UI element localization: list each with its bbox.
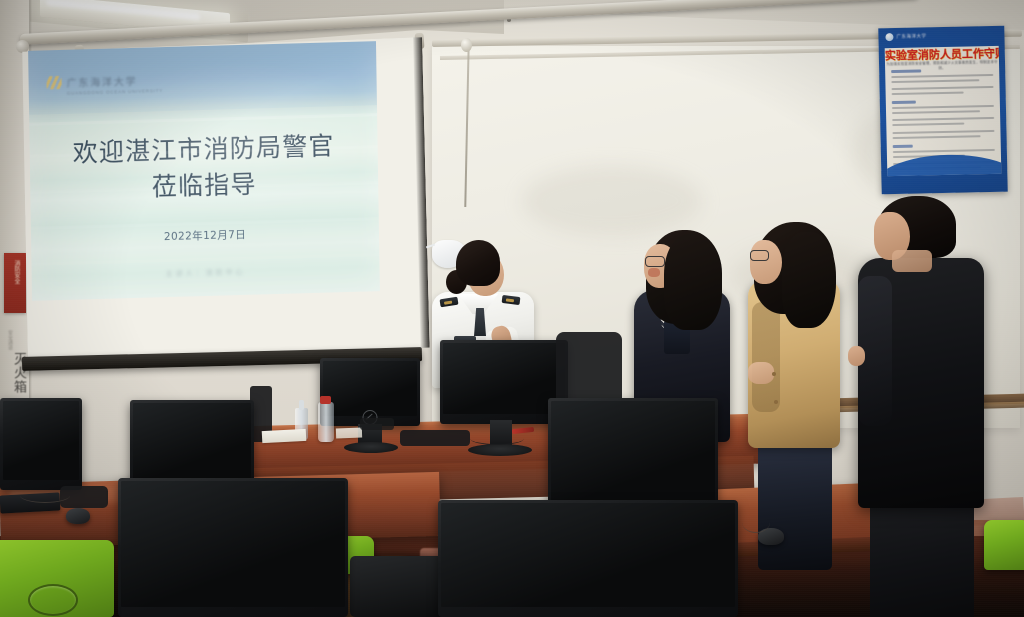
university-emblem-icon: [46, 75, 61, 88]
officer-epaulette-right: [502, 295, 521, 305]
chair-dark[interactable]: [350, 556, 446, 617]
bottle-cap: [320, 396, 331, 404]
slide-title: 欢迎湛江市消防局警官 莅临指导: [29, 127, 378, 208]
monitor-base-1: [344, 442, 398, 453]
monitor-screen: [443, 343, 565, 414]
woman-hands-clasped: [748, 362, 774, 384]
man-neck: [892, 250, 932, 272]
red-sign-text: 消防安全: [10, 260, 20, 284]
person-staff-woman-tan-coat: [740, 222, 846, 562]
mouse-cable: [742, 512, 770, 533]
woman-tan-glasses-icon: [750, 250, 769, 261]
officer-hair: [456, 240, 500, 286]
chair-green-left[interactable]: [0, 540, 114, 617]
monitor-front-left[interactable]: [0, 398, 82, 490]
woman-hair-back: [664, 234, 722, 330]
computer-mouse-front[interactable]: [66, 508, 90, 524]
classroom-scene: 广东海洋大学 实验室消防人员工作守则 为加强实验室消防安全管理，预防和减少火灾事…: [0, 0, 1024, 617]
desk-papers: [262, 429, 307, 443]
coat-button: [772, 372, 776, 376]
water-bottle: [318, 402, 334, 442]
poster-logo-text: 广东海洋大学: [896, 33, 926, 40]
roller-endcap: [16, 40, 29, 53]
coat-button: [774, 400, 778, 404]
cable: [470, 432, 524, 445]
slide-footer: 主讲人：消防中心: [32, 263, 380, 283]
desk-paper-small: [336, 428, 362, 439]
woman-mouth: [648, 268, 660, 277]
slide-logo-text: 广东海洋大学: [66, 72, 137, 89]
safety-poster: 广东海洋大学 实验室消防人员工作守则 为加强实验室消防安全管理，预防和减少火灾事…: [878, 26, 1007, 195]
monitor-screen: [121, 481, 345, 607]
monitor-front-large-right[interactable]: [438, 500, 738, 617]
monitor-base-2: [468, 444, 532, 456]
officer-epaulette-left: [439, 297, 458, 308]
desk-remote: [360, 418, 394, 430]
desk-cables-bundle: [400, 430, 470, 446]
monitor-screen: [3, 401, 79, 480]
screen-pull-knob[interactable]: [461, 38, 472, 52]
poster-emblem-icon: [885, 33, 893, 41]
projected-slide: 广东海洋大学 GUANGDONG OCEAN UNIVERSITY 欢迎湛江市消…: [28, 41, 380, 301]
front-desk-cable: [20, 488, 70, 503]
woman-glasses-icon: [645, 256, 665, 267]
monitor-screen: [551, 401, 715, 510]
woman-coat-arm: [752, 302, 780, 412]
sanitizer-pump: [299, 400, 304, 410]
woman-tan-trousers: [758, 440, 832, 570]
poster-body: 实验室消防人员工作守则 为加强实验室消防安全管理，预防和减少火灾事故的发生，特制…: [885, 46, 1002, 176]
monitor-dell-1[interactable]: [320, 358, 420, 426]
man-hand: [848, 346, 865, 366]
monitor-screen: [441, 503, 735, 607]
woman-tan-face: [750, 240, 782, 284]
left-wall-small-text: 安全通道: [7, 330, 14, 350]
woman-tan-hair-back: [782, 232, 836, 328]
monitor-screen: [133, 403, 251, 486]
monitor-front-large[interactable]: [118, 478, 348, 617]
person-staff-man-black-suit: [846, 196, 1006, 617]
monitor-screen: [323, 361, 417, 416]
fire-safety-red-sign: 消防安全: [4, 253, 26, 313]
poster-logo: 广东海洋大学: [885, 31, 931, 41]
chair-handle-hole: [28, 584, 78, 616]
chair-green-right[interactable]: [984, 520, 1024, 570]
